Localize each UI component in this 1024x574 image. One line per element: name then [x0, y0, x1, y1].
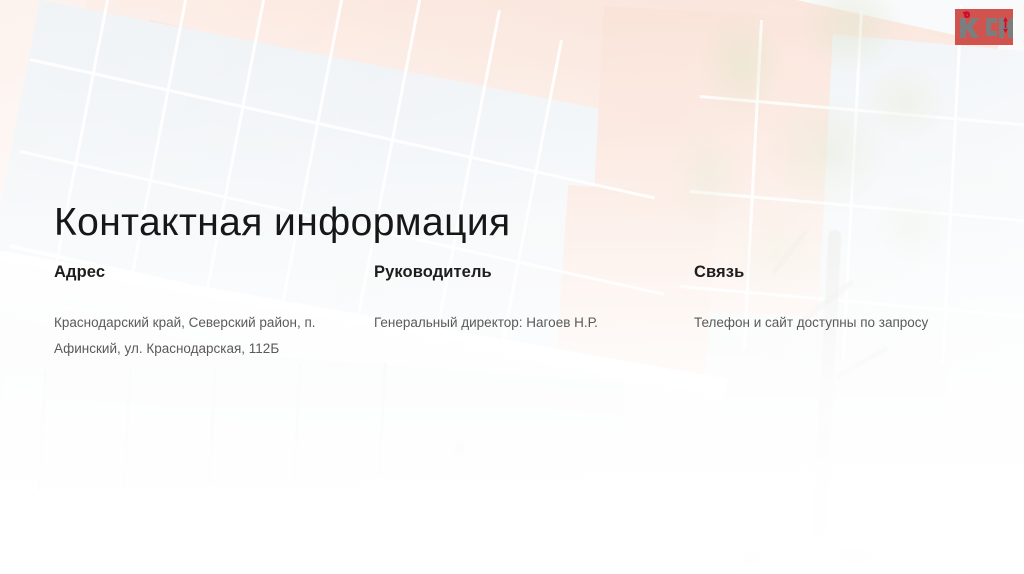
page-title: Контактная информация: [54, 202, 511, 245]
contact-column-director: Руководитель Генеральный директор: Нагое…: [374, 263, 694, 362]
contact-column-contact: Связь Телефон и сайт доступны по запросу: [694, 263, 1014, 362]
column-body-contact: Телефон и сайт доступны по запросу: [694, 310, 934, 336]
column-body-address: Краснодарский край, Северский район, п. …: [54, 310, 322, 363]
column-heading-contact: Связь: [694, 263, 1014, 283]
column-heading-director: Руководитель: [374, 263, 694, 283]
contact-columns: Адрес Краснодарский край, Северский райо…: [54, 263, 994, 362]
slide-root: Контактная информация Адрес Краснодарски…: [0, 0, 1024, 574]
slide-content: Контактная информация Адрес Краснодарски…: [0, 0, 1024, 574]
column-body-director: Генеральный директор: Нагоев Н.Р.: [374, 310, 674, 336]
contact-column-address: Адрес Краснодарский край, Северский райо…: [54, 263, 374, 362]
column-heading-address: Адрес: [54, 263, 374, 283]
